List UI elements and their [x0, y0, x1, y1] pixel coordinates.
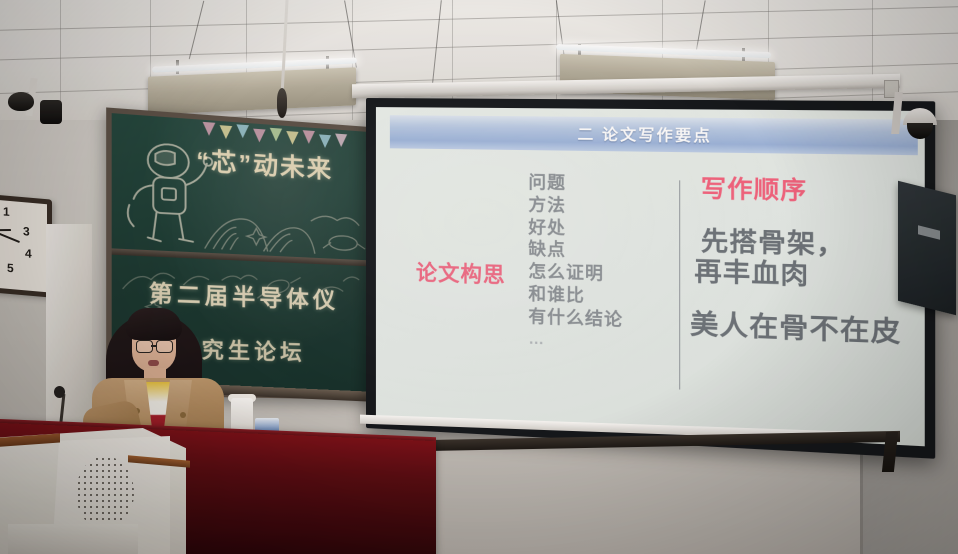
clock-hand-minute	[0, 229, 20, 243]
glasses-bridge-icon	[151, 345, 156, 347]
list-item: 问题	[528, 172, 666, 197]
projection-screen: 二 论文写作要点 论文构思 问题 方法 好处 缺点 怎么证明 和谁比 有什么结论…	[366, 98, 935, 459]
glasses-right-lens-icon	[156, 340, 173, 353]
classroom-photo-scene: 1 2 3 4 5	[0, 0, 958, 554]
wall-mounted-panel	[898, 181, 956, 315]
wall-clock: 1 2 3 4 5	[0, 192, 52, 297]
presentation-slide: 二 论文写作要点 论文构思 问题 方法 好处 缺点 怎么证明 和谁比 有什么结论…	[376, 107, 925, 446]
slide-right-heading: 写作顺序	[701, 168, 916, 208]
list-ellipsis: …	[528, 330, 666, 355]
podium-perforation-pattern	[76, 456, 134, 530]
clock-number: 3	[23, 224, 30, 239]
podium-base	[8, 524, 138, 554]
list-item: 方法	[528, 194, 666, 219]
slide-right-column: 写作顺序 先搭骨架， 再丰血肉 美人在骨不在皮	[694, 168, 915, 349]
clock-number: 4	[25, 246, 32, 261]
slide-left-list: 问题 方法 好处 缺点 怎么证明 和谁比 有什么结论 …	[528, 172, 666, 355]
presenter-mouth	[148, 360, 159, 366]
presenter-hair-front	[126, 308, 182, 340]
coat-button	[180, 412, 186, 418]
slide-content: 论文构思 问题 方法 好处 缺点 怎么证明 和谁比 有什么结论 … 写作顺序 先…	[376, 151, 925, 446]
security-camera-icon	[8, 92, 34, 111]
clock-number: 5	[7, 261, 14, 276]
slide-left-heading: 论文构思	[394, 256, 529, 291]
chalk-landscape-drawing	[203, 197, 368, 261]
clock-hand-hour	[0, 229, 11, 231]
slide-right-line-2: 再丰血肉	[694, 257, 915, 294]
slide-title-band: 二 论文写作要点	[390, 115, 918, 155]
list-item: 有什么结论	[528, 305, 666, 333]
slide-right-line-3: 美人在骨不在皮	[690, 308, 916, 348]
screen-pull-handle[interactable]	[277, 88, 287, 118]
slide-column-divider	[679, 180, 680, 389]
microphone-head-icon	[54, 386, 65, 398]
clock-number: 1	[3, 204, 10, 219]
slide-title-text: 二 论文写作要点	[577, 123, 711, 146]
security-camera-icon	[40, 100, 62, 124]
